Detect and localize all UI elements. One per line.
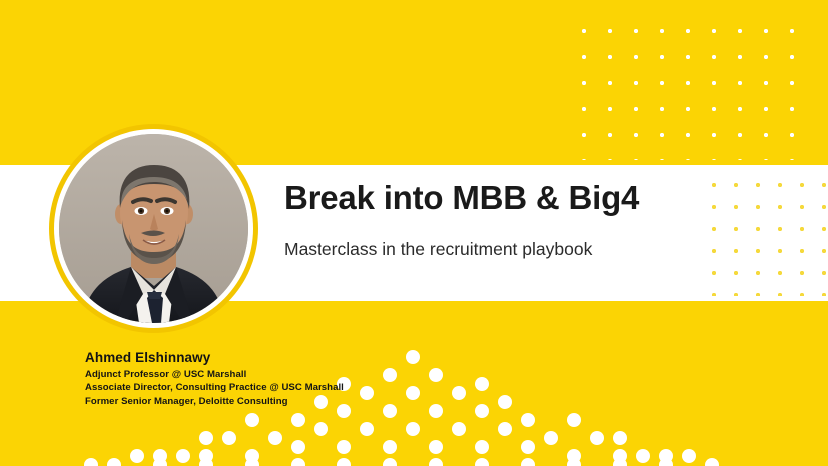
page-title: Break into MBB & Big4 [284, 180, 704, 216]
presenter-credential-2: Associate Director, Consulting Practice … [85, 381, 344, 395]
presenter-name: Ahmed Elshinnawy [85, 350, 344, 367]
white-dot-grid-decoration [567, 14, 815, 160]
avatar [49, 124, 258, 333]
presentation-slide: Break into MBB & Big4 Masterclass in the… [0, 0, 828, 466]
page-subtitle: Masterclass in the recruitment playbook [284, 216, 704, 260]
presenter-credential-3: Former Senior Manager, Deloitte Consulti… [85, 395, 344, 409]
portrait-photo [59, 134, 248, 323]
headings-block: Break into MBB & Big4 Masterclass in the… [284, 180, 704, 260]
presenter-block: Ahmed Elshinnawy Adjunct Professor @ USC… [85, 350, 344, 409]
presenter-credential-1: Adjunct Professor @ USC Marshall [85, 368, 344, 382]
